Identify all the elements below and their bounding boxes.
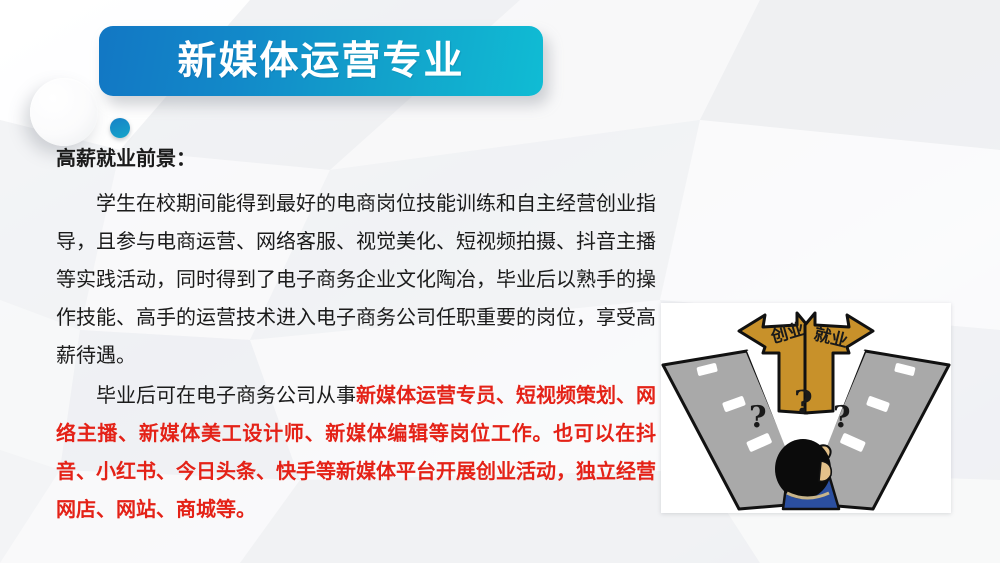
question-mark-center: ? — [794, 383, 813, 421]
paragraph-careers-lead: 毕业后可在电子商务公司从事 — [96, 383, 356, 407]
body-content: 高薪就业前景： 学生在校期间能得到最好的电商岗位技能训练和自主经营创业指导，且参… — [56, 148, 656, 528]
question-mark-left: ? — [749, 400, 767, 435]
career-crossroads-illustration: 创业 就业 ? ? ? — [661, 303, 951, 513]
decorative-circle — [30, 78, 98, 146]
title-banner: 新媒体运营专业 — [99, 26, 543, 96]
paragraph-intro-text: 学生在校期间能得到最好的电商岗位技能训练和自主经营创业指导，且参与电商运营、网络… — [56, 191, 656, 367]
paragraph-careers: 毕业后可在电子商务公司从事新媒体运营专员、短视频策划、网络主播、新媒体美工设计师… — [56, 376, 656, 528]
page-title: 新媒体运营专业 — [177, 42, 464, 81]
paragraph-intro: 学生在校期间能得到最好的电商岗位技能训练和自主经营创业指导，且参与电商运营、网络… — [56, 184, 656, 374]
section-heading: 高薪就业前景： — [56, 148, 656, 168]
person-figure — [775, 439, 839, 509]
slide-root: 新媒体运营专业 高薪就业前景： 学生在校期间能得到最好的电商岗位技能训练和自主经… — [0, 0, 1000, 563]
decorative-dot — [110, 118, 130, 138]
question-mark-right: ? — [833, 400, 851, 435]
